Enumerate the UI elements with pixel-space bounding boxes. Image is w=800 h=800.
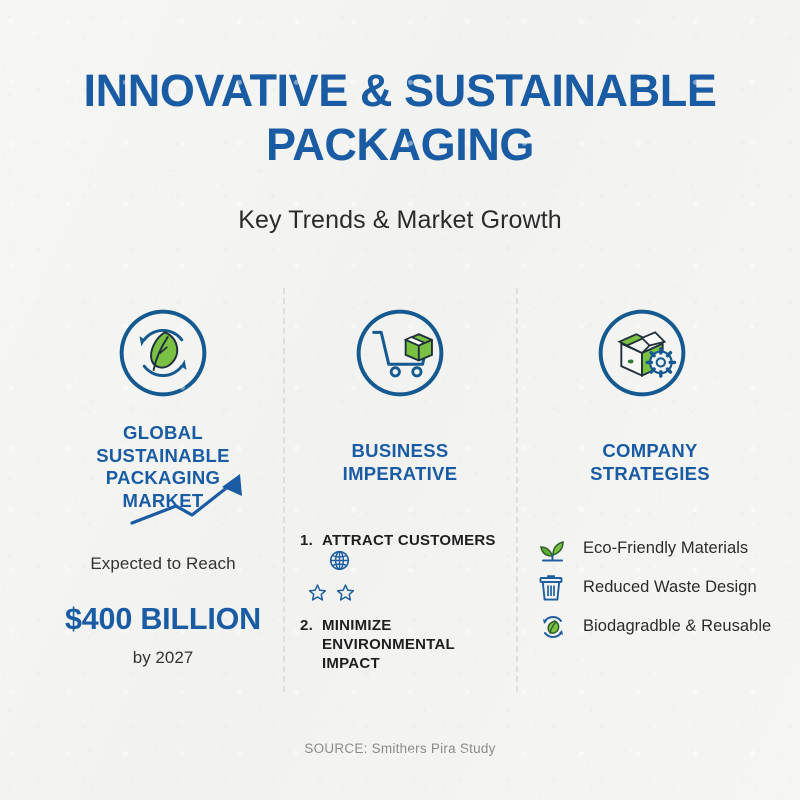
list-item: 2. MINIMIZE ENVIRONMENTAL IMPACT [300,616,514,673]
list-item-label: Reduced Waste Design [583,578,757,597]
source-attribution: SOURCE: Smithers Pira Study [0,741,800,756]
list-item-label: MINIMIZE ENVIRONMENTAL IMPACT [322,616,514,673]
column-title-company-strategies: COMPANY STRATEGIES [519,440,781,485]
page-subtitle: Key Trends & Market Growth [0,206,800,235]
column-global-sustainable-packaging-market: GLOBAL SUSTAINABLE PACKAGING MARKET Expe… [44,306,282,668]
star-outline-icon [336,583,355,607]
page-title: INNOVATIVE & SUSTAINABLE PACKAGING [60,64,740,172]
column-title-line-1: BUSINESS [352,440,449,461]
market-value-year: by 2027 [44,648,282,668]
market-value: $400 BILLION [44,602,282,637]
list-item: Biodagradble & Reusable [538,607,781,646]
column-title-business-imperative: BUSINESS IMPERATIVE [286,440,514,485]
open-box-gear-icon [595,306,689,400]
globe-icon [329,550,350,576]
list-item-label: Biodagradble & Reusable [583,617,771,636]
rating-stars [308,583,514,607]
column-title-line-3: PACKAGING [106,467,220,488]
company-strategies-list: Eco-Friendly Materials Reduced Wa [538,529,781,646]
star-outline-icon [308,583,327,607]
column-title-global-sustainable-packaging-market: GLOBAL SUSTAINABLE PACKAGING MARKET [44,422,282,512]
column-title-line-2: STRATEGIES [590,463,710,484]
column-business-imperative: BUSINESS IMPERATIVE 1. ATTRACT CUSTOMERS [286,306,514,673]
recycle-leaf-icon [116,306,210,400]
list-item-marker: 2. [300,616,322,635]
page-title-line-2: PACKAGING [266,119,534,170]
shopping-cart-package-icon [353,306,447,400]
recycle-leaf-small-icon [538,612,572,642]
column-company-strategies: COMPANY STRATEGIES Eco-Friendly Material… [519,306,781,646]
column-title-line-1: GLOBAL [123,422,203,443]
column-title-line-4: MARKET [123,490,204,511]
header: INNOVATIVE & SUSTAINABLE PACKAGING Key T… [0,64,800,235]
column-title-line-2: IMPERATIVE [343,463,458,484]
expected-to-reach-label: Expected to Reach [44,554,282,574]
seedling-icon [538,534,572,564]
list-item-label: ATTRACT CUSTOMERS [322,532,496,549]
list-item: Eco-Friendly Materials [538,529,781,568]
page-title-line-1: INNOVATIVE & SUSTAINABLE [84,65,717,116]
columns-container: GLOBAL SUSTAINABLE PACKAGING MARKET Expe… [0,306,800,706]
business-imperative-list-continued: 2. MINIMIZE ENVIRONMENTAL IMPACT [300,616,514,673]
trash-can-icon [538,573,572,603]
list-item: Reduced Waste Design [538,568,781,607]
list-item: 1. ATTRACT CUSTOMERS [300,531,514,576]
business-imperative-list: 1. ATTRACT CUSTOMERS [300,531,514,576]
column-title-line-1: COMPANY [602,440,697,461]
list-item-label-wrap: ATTRACT CUSTOMERS [322,531,514,576]
list-item-label: Eco-Friendly Materials [583,539,748,558]
list-item-marker: 1. [300,531,322,550]
column-title-line-2: SUSTAINABLE [96,445,230,466]
infographic-canvas: INNOVATIVE & SUSTAINABLE PACKAGING Key T… [0,0,800,800]
